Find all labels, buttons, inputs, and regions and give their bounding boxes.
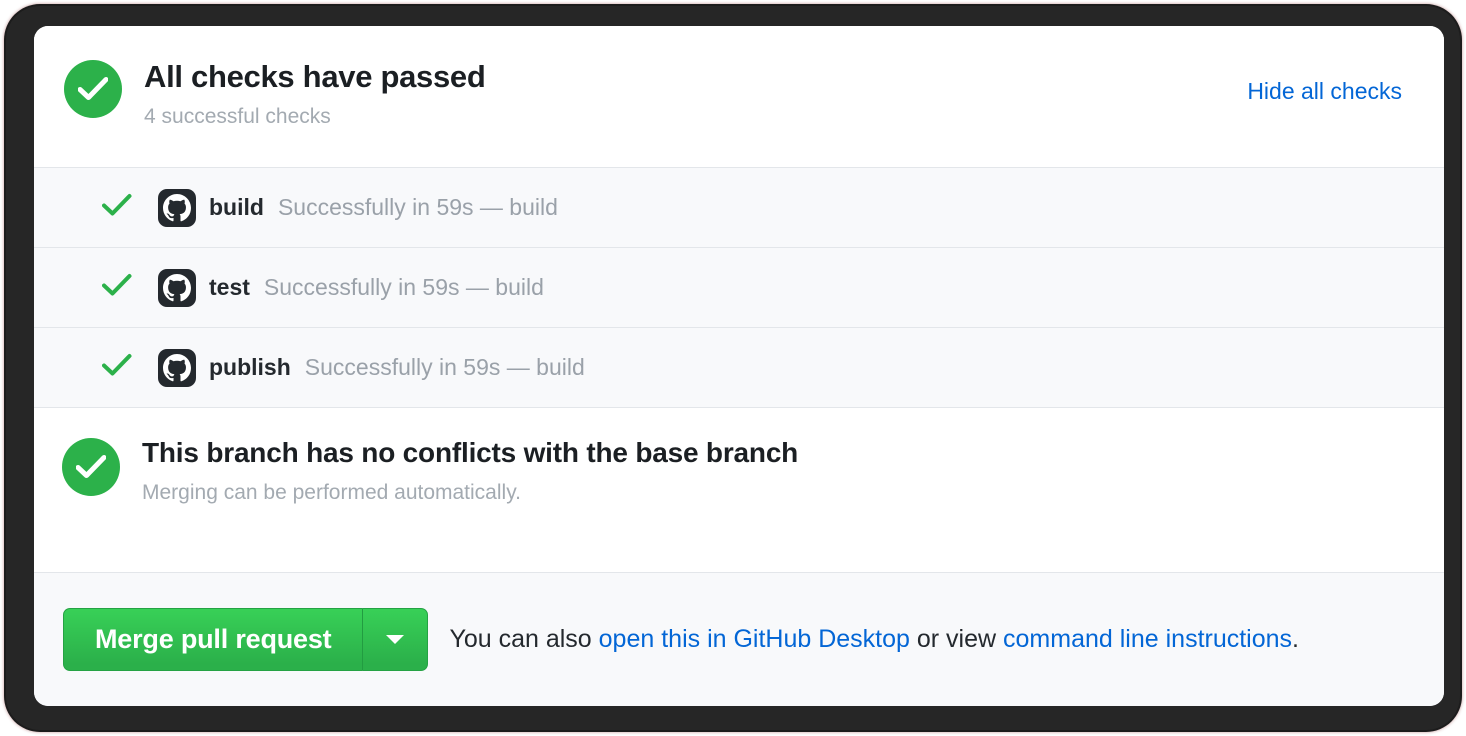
- merge-pull-request-button[interactable]: Merge pull request: [63, 608, 362, 671]
- merge-help-middle: or view: [910, 625, 1003, 653]
- check-row[interactable]: publish Successfully in 59s — build: [34, 327, 1444, 407]
- checks-status-header: All checks have passed 4 successful chec…: [34, 26, 1444, 167]
- branch-status-title: This branch has no conflicts with the ba…: [142, 438, 798, 469]
- page-title: All checks have passed: [144, 60, 485, 94]
- open-in-github-desktop-link[interactable]: open this in GitHub Desktop: [599, 625, 910, 653]
- check-name: test: [209, 274, 250, 301]
- hide-all-checks-link[interactable]: Hide all checks: [1247, 78, 1402, 105]
- circle-check-icon: [62, 438, 120, 496]
- merge-help-text: You can also open this in GitHub Desktop…: [449, 625, 1299, 654]
- merge-help-prefix: You can also: [449, 625, 598, 653]
- chevron-down-icon: [386, 635, 404, 644]
- merge-help-suffix: .: [1292, 625, 1299, 653]
- check-name: build: [209, 194, 264, 221]
- github-octocat-icon: [158, 269, 196, 307]
- device-frame: All checks have passed 4 successful chec…: [6, 6, 1460, 730]
- merge-status-card: All checks have passed 4 successful chec…: [34, 26, 1444, 706]
- circle-check-icon: [64, 60, 122, 118]
- merge-button-group: Merge pull request: [63, 608, 428, 671]
- branch-conflict-section: This branch has no conflicts with the ba…: [34, 407, 1444, 572]
- check-description: Successfully in 59s — build: [305, 354, 585, 381]
- check-row[interactable]: build Successfully in 59s — build: [34, 167, 1444, 247]
- check-row[interactable]: test Successfully in 59s — build: [34, 247, 1444, 327]
- check-description: Successfully in 59s — build: [264, 274, 544, 301]
- check-icon: [102, 353, 132, 382]
- merge-options-dropdown-button[interactable]: [362, 608, 428, 671]
- check-icon: [102, 193, 132, 222]
- check-description: Successfully in 59s — build: [278, 194, 558, 221]
- merge-footer: Merge pull request You can also open thi…: [34, 572, 1444, 706]
- github-octocat-icon: [158, 189, 196, 227]
- branch-status-subtitle: Merging can be performed automatically.: [142, 481, 798, 504]
- check-name: publish: [209, 354, 291, 381]
- checks-list: build Successfully in 59s — build test S…: [34, 167, 1444, 407]
- check-icon: [102, 273, 132, 302]
- github-octocat-icon: [158, 349, 196, 387]
- command-line-instructions-link[interactable]: command line instructions: [1003, 625, 1292, 653]
- checks-summary: 4 successful checks: [144, 105, 485, 128]
